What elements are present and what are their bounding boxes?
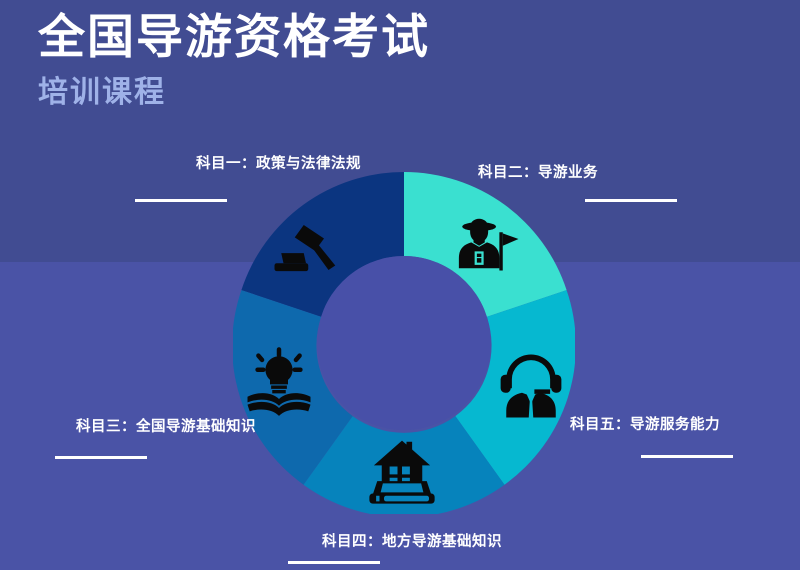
segment-rule-subject-4 [288,561,380,564]
donut-chart-svg [233,172,575,514]
segment-rule-subject-3 [55,456,147,459]
segment-rule-subject-2 [585,199,677,202]
poster-subtitle: 培训课程 [38,72,638,114]
segment-label-subject-5: 科目五：导游服务能力 [570,413,720,434]
poster-header: 全国导游资格考试 培训课程 [38,8,638,114]
donut-chart [233,172,575,514]
segment-label-subject-3: 科目三：全国导游基础知识 [76,415,256,436]
poster-canvas: 全国导游资格考试 培训课程 [0,0,800,570]
segment-rule-subject-5 [641,455,733,458]
segment-label-subject-1: 科目一：政策与法律法规 [196,152,361,173]
poster-title: 全国导游资格考试 [38,8,638,68]
segment-rule-subject-1 [135,199,227,202]
segment-label-subject-2: 科目二：导游业务 [478,161,598,182]
donut-center-hole [317,256,491,430]
segment-label-subject-4: 科目四：地方导游基础知识 [322,530,502,551]
